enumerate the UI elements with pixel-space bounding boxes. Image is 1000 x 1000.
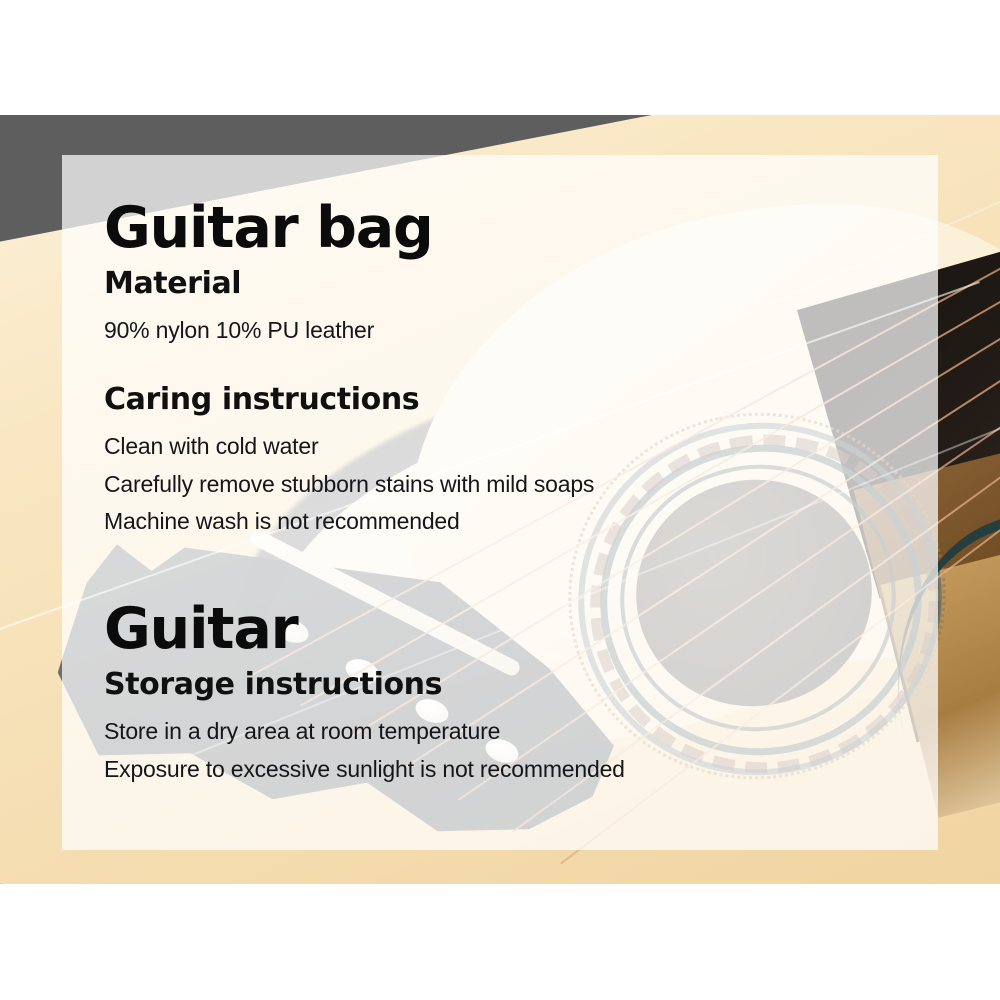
- section-title-guitar-bag: Guitar bag: [104, 199, 938, 257]
- spacer: [104, 349, 938, 383]
- heading-material: Material: [104, 267, 938, 300]
- heading-caring-instructions: Caring instructions: [104, 383, 938, 416]
- storage-line-2: Exposure to excessive sunlight is not re…: [104, 751, 938, 788]
- screenshot-root: Guitar bag Material 90% nylon 10% PU lea…: [0, 0, 1000, 1000]
- spacer: [104, 540, 938, 600]
- material-line-1: 90% nylon 10% PU leather: [104, 312, 938, 349]
- heading-storage-instructions: Storage instructions: [104, 668, 938, 701]
- caring-line-3: Machine wash is not recommended: [104, 503, 938, 540]
- section-title-guitar: Guitar: [104, 600, 938, 658]
- care-instructions-panel: Guitar bag Material 90% nylon 10% PU lea…: [62, 155, 938, 850]
- caring-line-2: Carefully remove stubborn stains with mi…: [104, 466, 938, 503]
- caring-line-1: Clean with cold water: [104, 428, 938, 465]
- storage-line-1: Store in a dry area at room temperature: [104, 713, 938, 750]
